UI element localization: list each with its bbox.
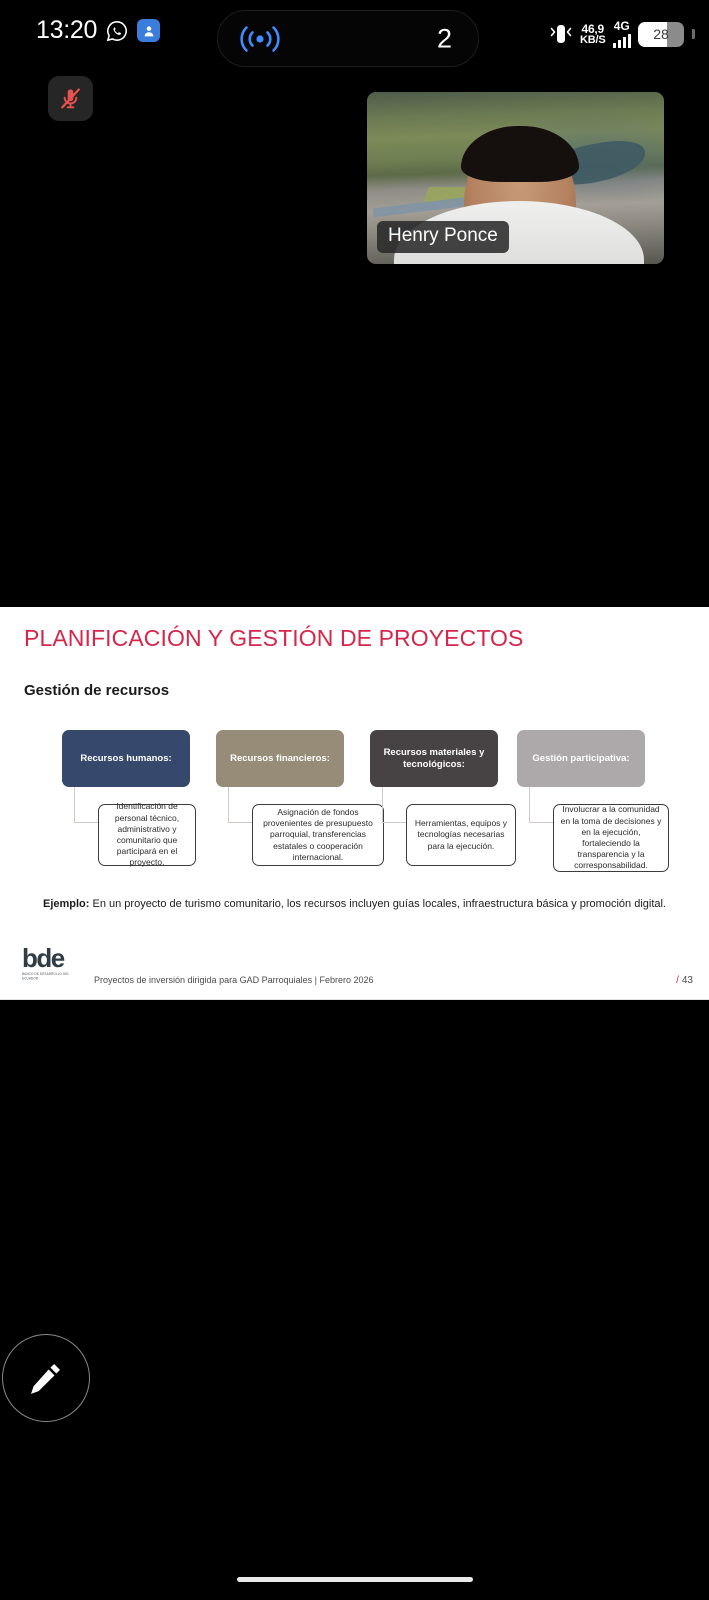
bluetooth-icon <box>549 21 573 47</box>
page-slash: / <box>676 975 679 986</box>
bde-logo-subtitle: BANCO DE DESARROLLO DEL ECUADOR <box>22 972 74 981</box>
slide-footer-text: Proyectos de inversión dirigida para GAD… <box>94 975 373 985</box>
diagram-head-box: Recursos humanos: <box>62 730 190 787</box>
signal-bars-graphic <box>613 33 632 48</box>
diagram-column-financial-resources: Recursos financieros: Asignación de fond… <box>216 730 344 787</box>
diagram-body-box: Identificación de personal técnico, admi… <box>98 804 196 866</box>
diagram-body-box: Involucrar a la comunidad en la toma de … <box>553 804 669 872</box>
signal-bars-icon: 4G <box>613 20 632 48</box>
battery-icon: 28 <box>638 22 684 47</box>
status-notch-pill[interactable]: 2 <box>217 10 479 67</box>
bottom-area <box>0 1000 709 1600</box>
diagram-connector <box>228 787 252 823</box>
network-rate-unit: KB/S <box>580 35 605 46</box>
slide-page-number: /43 <box>676 975 693 986</box>
slide-title: PLANIFICACIÓN Y GESTIÓN DE PROYECTOS <box>24 625 524 652</box>
notch-participant-count: 2 <box>437 25 452 52</box>
home-indicator[interactable] <box>237 1577 473 1582</box>
diagram-column-material-resources: Recursos materiales y tecnológicos: Herr… <box>370 730 498 787</box>
meeting-video-area: Henry Ponce <box>0 70 709 607</box>
status-bar-left: 13:20 <box>36 18 160 43</box>
battery-tip <box>692 29 695 39</box>
status-bar: 13:20 <box>0 0 709 70</box>
bde-logo: bde BANCO DE DESARROLLO DEL ECUADOR <box>22 947 74 980</box>
microphone-muted-icon[interactable] <box>48 76 93 121</box>
diagram-head-box: Recursos financieros: <box>216 730 344 787</box>
diagram-column-participative-management: Gestión participativa: Involucrar a la c… <box>517 730 645 787</box>
diagram-connector <box>74 787 98 823</box>
slide-subtitle: Gestión de recursos <box>24 682 169 699</box>
diagram-head-box: Recursos materiales y tecnológicos: <box>370 730 498 787</box>
whatsapp-icon <box>106 20 128 42</box>
status-bar-right: 46,9 KB/S 4G 28 <box>549 20 695 48</box>
page-number-value: 43 <box>682 975 693 986</box>
bde-logo-text: bde <box>22 947 74 970</box>
diagram-body-box: Asignación de fondos provenientes de pre… <box>252 804 384 866</box>
network-rate: 46,9 KB/S <box>580 23 605 46</box>
status-clock: 13:20 <box>36 18 97 43</box>
example-text: En un proyecto de turismo comunitario, l… <box>89 898 666 910</box>
app-badge-icon <box>137 19 160 42</box>
diagram-head-box: Gestión participativa: <box>517 730 645 787</box>
diagram-column-human-resources: Recursos humanos: Identificación de pers… <box>62 730 190 787</box>
pencil-edit-icon[interactable] <box>2 1334 90 1422</box>
shared-slide[interactable]: PLANIFICACIÓN Y GESTIÓN DE PROYECTOS Ges… <box>0 607 709 1000</box>
broadcast-icon <box>236 21 284 57</box>
diagram-body-box: Herramientas, equipos y tecnologías nece… <box>406 804 516 866</box>
slide-example: Ejemplo: En un proyecto de turismo comun… <box>36 897 673 913</box>
participant-name-label: Henry Ponce <box>377 221 509 253</box>
phone-screen: 13:20 <box>0 0 709 1600</box>
battery-level: 28 <box>638 26 684 42</box>
example-label: Ejemplo: <box>43 898 89 910</box>
diagram-connector <box>382 787 406 823</box>
diagram-connector <box>529 787 553 823</box>
network-rate-value: 46,9 <box>581 23 604 35</box>
resources-diagram: Recursos humanos: Identificación de pers… <box>62 730 652 875</box>
participant-video-tile[interactable]: Henry Ponce <box>367 92 664 264</box>
network-generation: 4G <box>614 20 630 32</box>
